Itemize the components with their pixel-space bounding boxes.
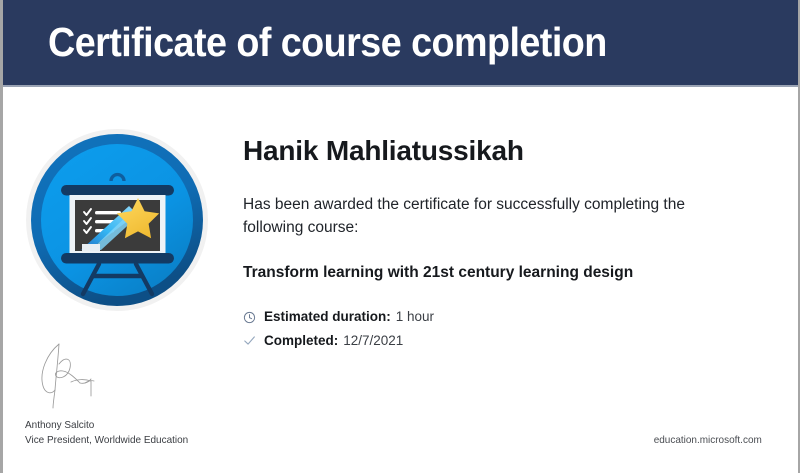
header-divider	[3, 85, 798, 87]
page-title: Certificate of course completion	[48, 22, 607, 63]
signature-block: Anthony Salcito Vice President, Worldwid…	[25, 338, 285, 448]
certificate-header-band: Certificate of course completion	[3, 0, 798, 85]
course-meta-list: Estimated duration: 1 hour Completed: 12…	[243, 307, 773, 351]
meta-row-duration: Estimated duration: 1 hour	[243, 307, 773, 327]
handwritten-signature	[25, 338, 145, 410]
signer-name: Anthony Salcito	[25, 418, 272, 433]
course-name: Transform learning with 21st century lea…	[243, 263, 773, 283]
meta-label-duration: Estimated duration:	[264, 307, 391, 327]
certificate-page: Certificate of course completion	[0, 0, 800, 473]
footer-url: education.microsoft.com	[654, 434, 762, 446]
course-completion-badge	[25, 128, 209, 312]
badge-illustration	[25, 128, 209, 312]
signer-title: Vice President, Worldwide Education	[25, 433, 272, 448]
meta-row-completed: Completed: 12/7/2021	[243, 331, 773, 351]
certificate-body: Hanik Mahliatussikah Has been awarded th…	[243, 136, 773, 354]
awarded-statement: Has been awarded the certificate for suc…	[243, 193, 723, 240]
meta-value-duration: 1 hour	[396, 307, 434, 327]
meta-value-completed: 12/7/2021	[343, 331, 403, 351]
clock-icon	[243, 310, 260, 325]
recipient-name: Hanik Mahliatussikah	[243, 136, 773, 167]
